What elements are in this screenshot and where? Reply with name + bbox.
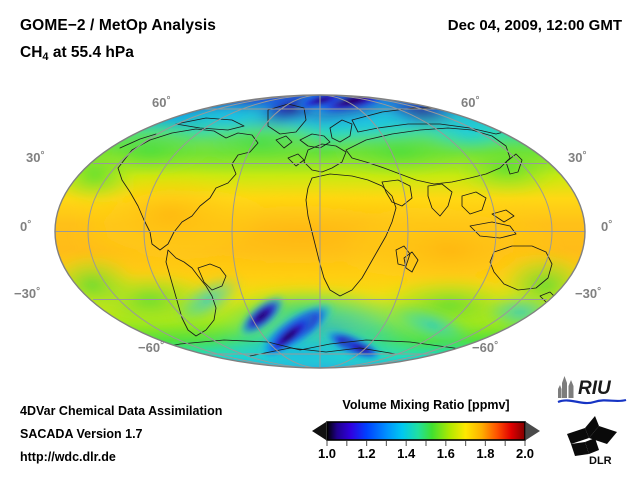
- dlr-wordmark: DLR: [589, 455, 612, 466]
- riu-towers-icon: [558, 376, 574, 398]
- colorbar-swatch: [310, 420, 542, 446]
- footer-line-version: SACADA Version 1.7: [20, 427, 143, 441]
- colorbar-min-arrow: [312, 422, 326, 440]
- colorbar-tick-2: 1.2: [358, 446, 376, 461]
- lat-label-30n-left: 30°: [26, 150, 44, 165]
- lat-label-0-left: 0°: [20, 219, 31, 234]
- lat-label-0-right: 0°: [601, 219, 612, 234]
- colorbar-tick-1: 1.0: [318, 446, 336, 461]
- footer-line-url: http://wdc.dlr.de: [20, 450, 116, 464]
- lat-label-60s-right: −60°: [472, 340, 498, 355]
- lat-label-60n-left: 60°: [152, 95, 170, 110]
- lat-label-30s-right: −30°: [575, 286, 601, 301]
- footer-line-method: 4DVar Chemical Data Assimilation: [20, 404, 222, 418]
- lat-label-60n-right: 60°: [461, 95, 479, 110]
- colorbar-title: Volume Mixing Ratio [ppmv]: [310, 398, 542, 412]
- colorbar-tick-6: 2.0: [516, 446, 534, 461]
- riu-wordmark: RIU: [578, 378, 612, 399]
- dlr-logo: DLR: [565, 414, 627, 466]
- colorbar: Volume Mixing Ratio [ppmv]: [310, 398, 542, 470]
- lat-label-30n-right: 30°: [568, 150, 586, 165]
- riu-wave-icon: [558, 400, 626, 403]
- dlr-mark-icon: [567, 416, 617, 456]
- colorbar-tick-5: 1.8: [476, 446, 494, 461]
- colorbar-gradient: [327, 422, 525, 440]
- global-map: 60° 30° 0° −30° −60° 60° 30° 0° −30° −60…: [0, 0, 640, 400]
- riu-logo: RIU: [556, 374, 630, 408]
- lat-label-30s-left: −30°: [14, 286, 40, 301]
- map-canvas: [0, 0, 640, 400]
- colorbar-max-arrow: [526, 422, 540, 440]
- figure-root: GOME−2 / MetOp Analysis Dec 04, 2009, 12…: [0, 0, 640, 480]
- colorbar-tick-3: 1.4: [397, 446, 415, 461]
- colorbar-tick-4: 1.6: [437, 446, 455, 461]
- colorbar-tick-labels: 1.0 1.2 1.4 1.6 1.8 2.0: [310, 446, 542, 466]
- lat-label-60s-left: −60°: [138, 340, 164, 355]
